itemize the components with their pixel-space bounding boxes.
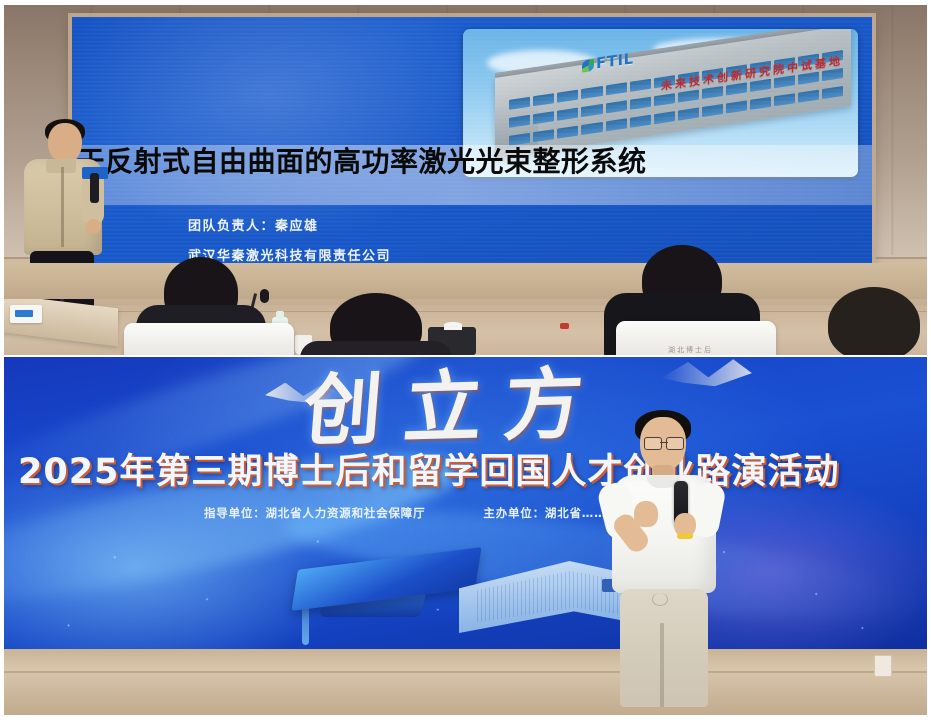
presenter-shirt-placket: [61, 167, 64, 247]
eyeglasses: [644, 437, 684, 448]
audience-shoulders: [300, 341, 452, 355]
pants-seam: [660, 623, 664, 707]
frame-edge-top: [0, 0, 931, 5]
frame-edge-right: [927, 0, 931, 720]
presenter-hand: [86, 219, 101, 234]
audience-head: [828, 287, 920, 355]
speaker-standing: [594, 417, 734, 715]
guiding-unit-text: 指导单位：湖北省人力资源和社会保障厅: [204, 505, 425, 521]
photo-collage: FTIL 未来技术创新研究院中试基地 团队负责人：秦应雄 武汉华秦激光科技有限责…: [0, 0, 931, 720]
top-photo: FTIL 未来技术创新研究院中试基地 团队负责人：秦应雄 武汉华秦激光科技有限责…: [4, 5, 927, 355]
podium-name-card: [10, 305, 42, 323]
speaker-pants: [620, 589, 708, 707]
presenter-head: [48, 123, 82, 163]
stage-apron: [4, 649, 927, 715]
speaker-left-hand: [634, 501, 658, 527]
audience-table: [4, 263, 927, 299]
wristband: [677, 533, 693, 539]
wall-switch-plate: [874, 655, 892, 677]
backdrop-credits: 指导单位：湖北省人力资源和社会保障厅 主办单位：湖北省……中心: [204, 505, 844, 521]
chair-label: 湖北博士后: [668, 345, 713, 355]
desk-microphone-head: [260, 289, 269, 303]
slide-team-leader: 团队负责人：秦应雄: [188, 215, 319, 234]
frame-edge-bottom: [0, 715, 931, 720]
slide-title: 基于反射式自由曲面的高功率激光光束整形系统: [48, 137, 798, 187]
bottom-photo: 创立方 2025年第三期博士后和留学回国人才创业路演活动 指导单位：湖北省人力资…: [4, 357, 927, 715]
graduation-cap-graphic: [294, 553, 484, 629]
backdrop-title: 2025年第三期博士后和留学回国人才创业路演活动: [18, 449, 913, 495]
calligraphy-text: 创立方: [300, 359, 608, 457]
desk-marker: [560, 323, 569, 329]
pants-drawstring: [652, 593, 668, 606]
audience-chair: [124, 323, 294, 355]
frame-edge-left: [0, 0, 4, 720]
handheld-microphone: [90, 173, 99, 203]
